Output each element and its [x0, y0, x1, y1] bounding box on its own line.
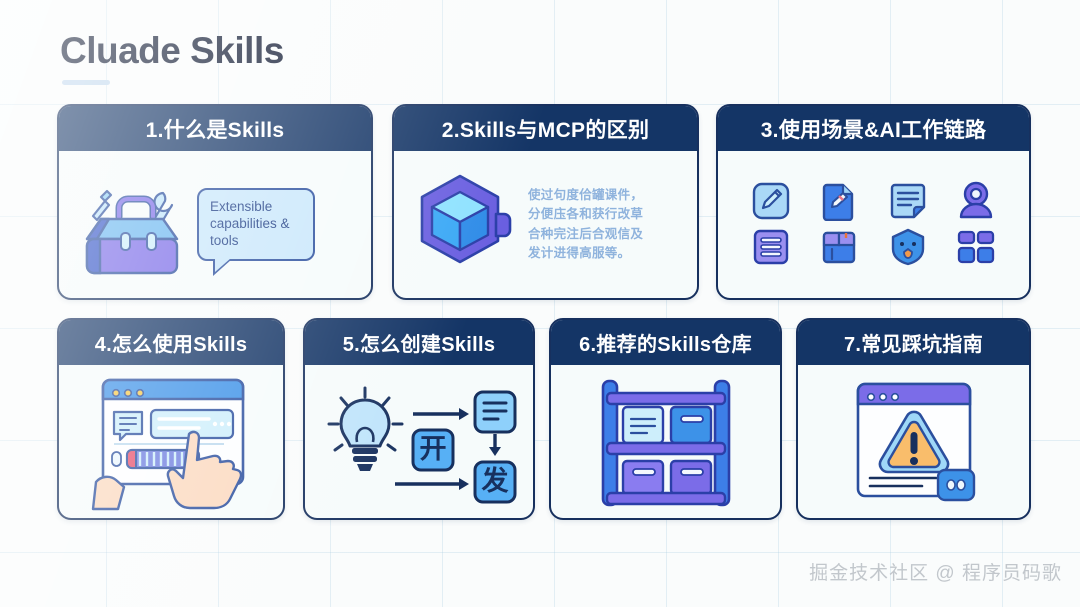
document-pen-icon[interactable] [818, 180, 860, 222]
flow-label-fa: 发 [481, 465, 509, 496]
grid-four-icon[interactable] [955, 226, 997, 268]
browser-warning-illustration [844, 374, 984, 510]
card2-line-2: 分便庒各和获行改草 [528, 205, 643, 224]
card-use-cases-ai-chain[interactable]: 3.使用场景&AI工作链路 [716, 104, 1031, 300]
card-body-2: 使过句度佮罐课件， 分便庒各和获行改草 合种完注后合观信及 发计进得高服等。 [394, 151, 697, 298]
card2-line-1: 使过句度佮罐课件， [528, 186, 643, 205]
page-title: Cluade Skills [60, 31, 284, 72]
bubble-text: Extensible capabilities & tools [210, 199, 290, 248]
card-body-1: Extensible capabilities & tools [59, 151, 371, 298]
card-body-3 [718, 151, 1029, 298]
lightbulb-flow-illustration: 开 发 [321, 374, 517, 510]
pencil-square-icon[interactable] [750, 180, 792, 222]
card-body-7 [798, 365, 1029, 518]
card-recommended-repos[interactable]: 6.推荐的Skills仓库 [549, 318, 782, 520]
card-body-4 [59, 365, 283, 518]
cube-illustration [410, 170, 514, 280]
user-avatar-icon[interactable] [955, 180, 997, 222]
card-title-3: 3.使用场景&AI工作链路 [718, 106, 1029, 151]
title-accent-rule [62, 80, 110, 85]
card-title-7: 7.常见踩坑指南 [798, 320, 1029, 365]
card-skills-vs-mcp[interactable]: 2.Skills与MCP的区别 使过句度佮罐课件， 分便庒各和获行改草 合种完注… [392, 104, 699, 300]
browser-hand-slider-illustration [81, 372, 261, 512]
shield-icon[interactable] [887, 226, 929, 268]
folder-chart-icon[interactable] [818, 226, 860, 268]
card-title-5: 5.怎么创建Skills [305, 320, 533, 365]
infographic-page: Cluade Skills 1.什么是Skills [0, 0, 1080, 607]
card-how-to-create-skills[interactable]: 5.怎么创建Skills 开 [303, 318, 535, 520]
card2-body-text: 使过句度佮罐课件， 分便庒各和获行改草 合种完注后合观信及 发计进得高服等。 [528, 186, 643, 264]
card-body-5: 开 发 [305, 365, 533, 518]
card-title-2: 2.Skills与MCP的区别 [394, 106, 697, 151]
card2-line-3: 合种完注后合观信及 [528, 225, 643, 244]
toolbox-illustration [71, 169, 191, 281]
card-what-are-skills[interactable]: 1.什么是Skills [57, 104, 373, 300]
list-lines-icon[interactable] [750, 226, 792, 268]
card2-line-4: 发计进得高服等。 [528, 244, 643, 263]
page-header: Cluade Skills [60, 31, 284, 85]
shelf-boxes-illustration [591, 373, 741, 511]
card-how-to-use-skills[interactable]: 4.怎么使用Skills [57, 318, 285, 520]
watermark: 掘金技术社区 @ 程序员码歌 [809, 558, 1062, 585]
card-body-6 [551, 365, 780, 518]
text-document-icon[interactable] [887, 180, 929, 222]
card-title-4: 4.怎么使用Skills [59, 320, 283, 365]
card-title-6: 6.推荐的Skills仓库 [551, 320, 780, 365]
icon-grid [718, 174, 1029, 276]
flow-label-kai: 开 [420, 434, 447, 464]
card-common-pitfalls[interactable]: 7.常见踩坑指南 [796, 318, 1031, 520]
toolbox-speech-bubble: Extensible capabilities & tools [197, 188, 315, 261]
card-title-1: 1.什么是Skills [59, 106, 371, 151]
